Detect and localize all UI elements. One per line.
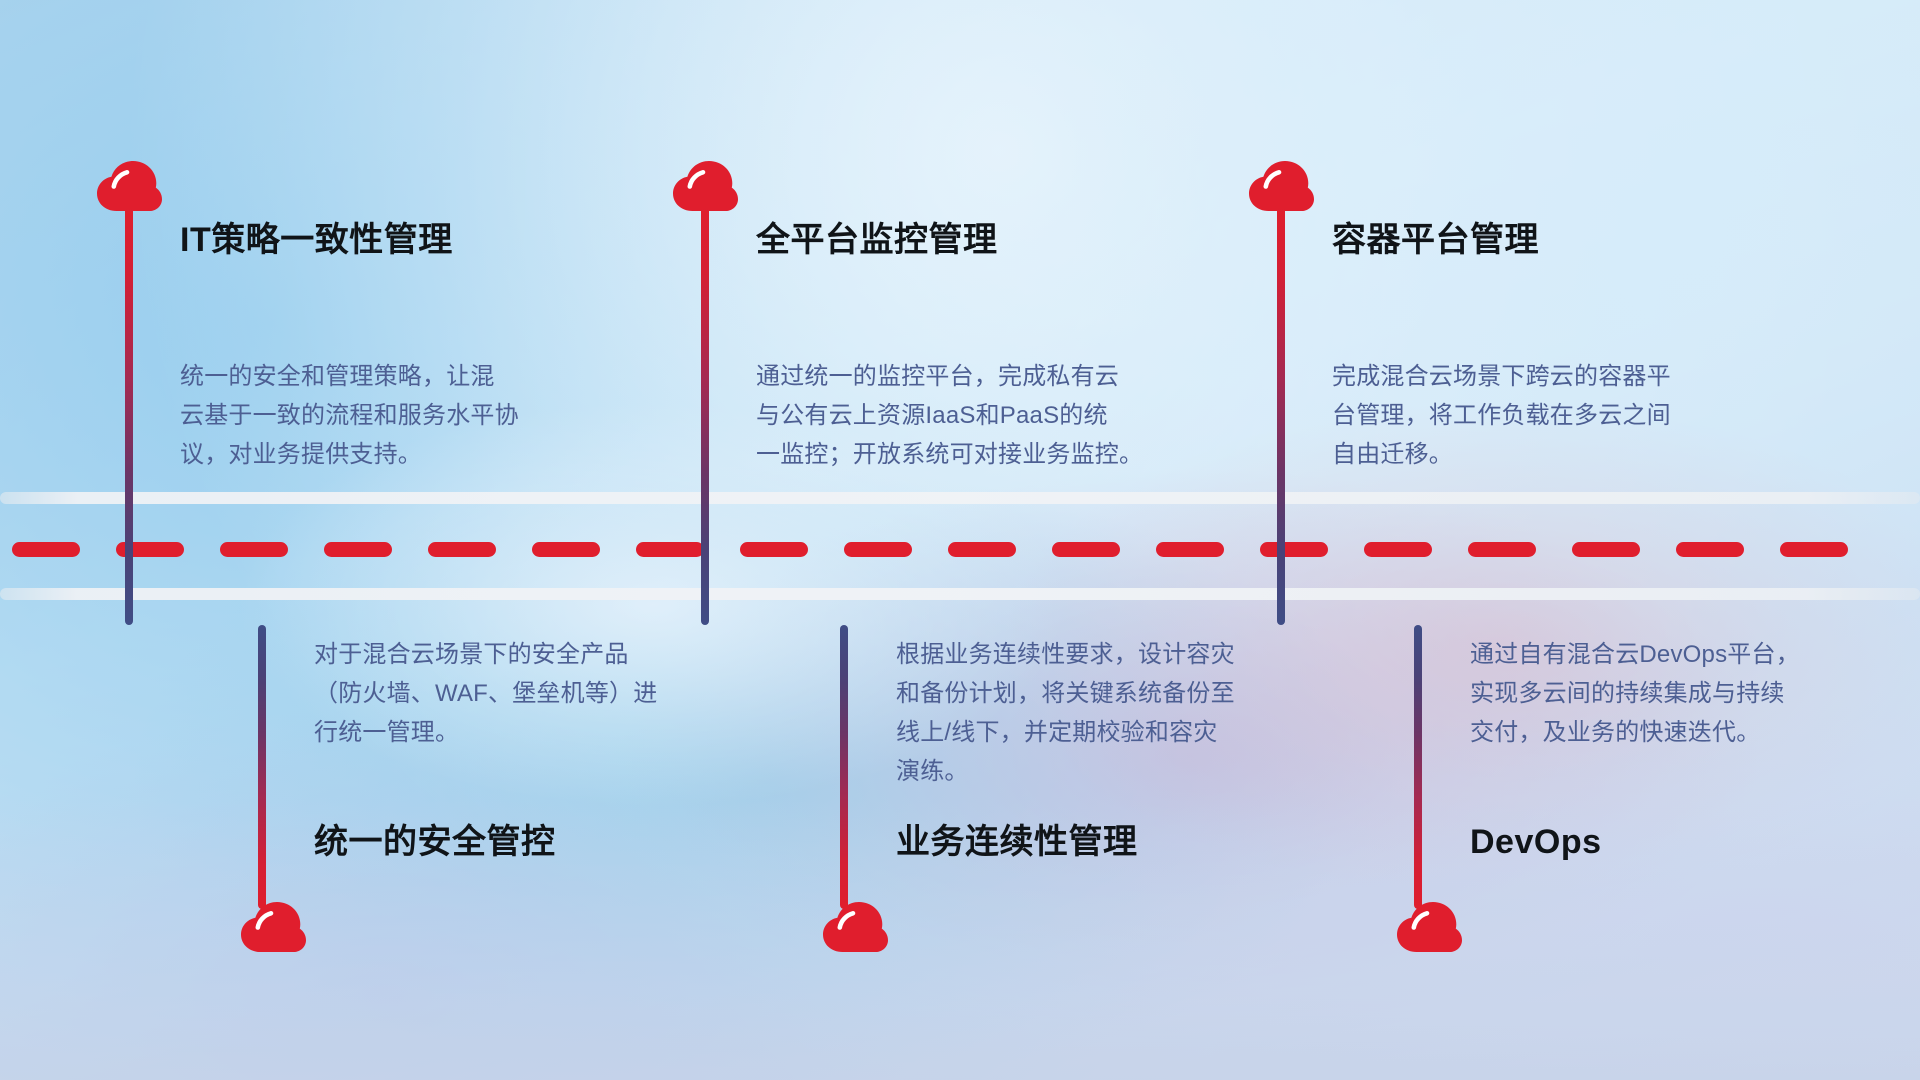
- road-dash: [428, 542, 496, 557]
- marker-stem: [258, 625, 266, 909]
- marker-stem: [701, 206, 709, 625]
- cloud-icon: [672, 160, 738, 212]
- road-dash: [1156, 542, 1224, 557]
- road-dash: [324, 542, 392, 557]
- cloud-icon: [240, 901, 306, 953]
- road-dash: [1260, 542, 1328, 557]
- road-edge-line-top: [0, 492, 1920, 504]
- card-heading: 容器平台管理: [1332, 220, 1539, 261]
- road-dash: [636, 542, 704, 557]
- card-body-text: 统一的安全和管理策略，让混 云基于一致的流程和服务水平协 议，对业务提供支持。: [180, 358, 610, 475]
- card-heading: 统一的安全管控: [314, 822, 556, 863]
- road-dash: [220, 542, 288, 557]
- marker-stem: [1414, 625, 1422, 909]
- marker-stem: [1277, 206, 1285, 625]
- road-dash: [12, 542, 80, 557]
- road-center-dashed-line: [0, 541, 1920, 557]
- road-dash: [844, 542, 912, 557]
- road-dash: [1572, 542, 1640, 557]
- card-heading: DevOps: [1470, 822, 1602, 863]
- card-heading: 全平台监控管理: [756, 220, 998, 261]
- card-body-text: 通过自有混合云DevOps平台， 实现多云间的持续集成与持续 交付，及业务的快速…: [1470, 636, 1910, 753]
- card-heading: IT策略一致性管理: [180, 220, 453, 261]
- cloud-icon: [822, 901, 888, 953]
- road-dash: [1052, 542, 1120, 557]
- cloud-icon: [1396, 901, 1462, 953]
- marker-stem: [125, 206, 133, 625]
- card-heading: 业务连续性管理: [896, 822, 1138, 863]
- road-dash: [1468, 542, 1536, 557]
- road-edge-line-bottom: [0, 588, 1920, 600]
- road-dash: [1676, 542, 1744, 557]
- marker-stem: [840, 625, 848, 909]
- card-body-text: 通过统一的监控平台，完成私有云 与公有云上资源IaaS和PaaS的统 一监控；开…: [756, 358, 1201, 475]
- road-dash: [740, 542, 808, 557]
- road-dash: [1780, 542, 1848, 557]
- road-dash: [1364, 542, 1432, 557]
- infographic-canvas: IT策略一致性管理 统一的安全和管理策略，让混 云基于一致的流程和服务水平协 议…: [0, 0, 1920, 1080]
- card-body-text: 完成混合云场景下跨云的容器平 台管理，将工作负载在多云之间 自由迁移。: [1332, 358, 1772, 475]
- card-body-text: 根据业务连续性要求，设计容灾 和备份计划，将关键系统备份至 线上/线下，并定期校…: [896, 636, 1341, 792]
- road-dash: [532, 542, 600, 557]
- card-body-text: 对于混合云场景下的安全产品 （防火墙、WAF、堡垒机等）进 行统一管理。: [314, 636, 754, 753]
- cloud-icon: [1248, 160, 1314, 212]
- cloud-icon: [96, 160, 162, 212]
- road-dash: [948, 542, 1016, 557]
